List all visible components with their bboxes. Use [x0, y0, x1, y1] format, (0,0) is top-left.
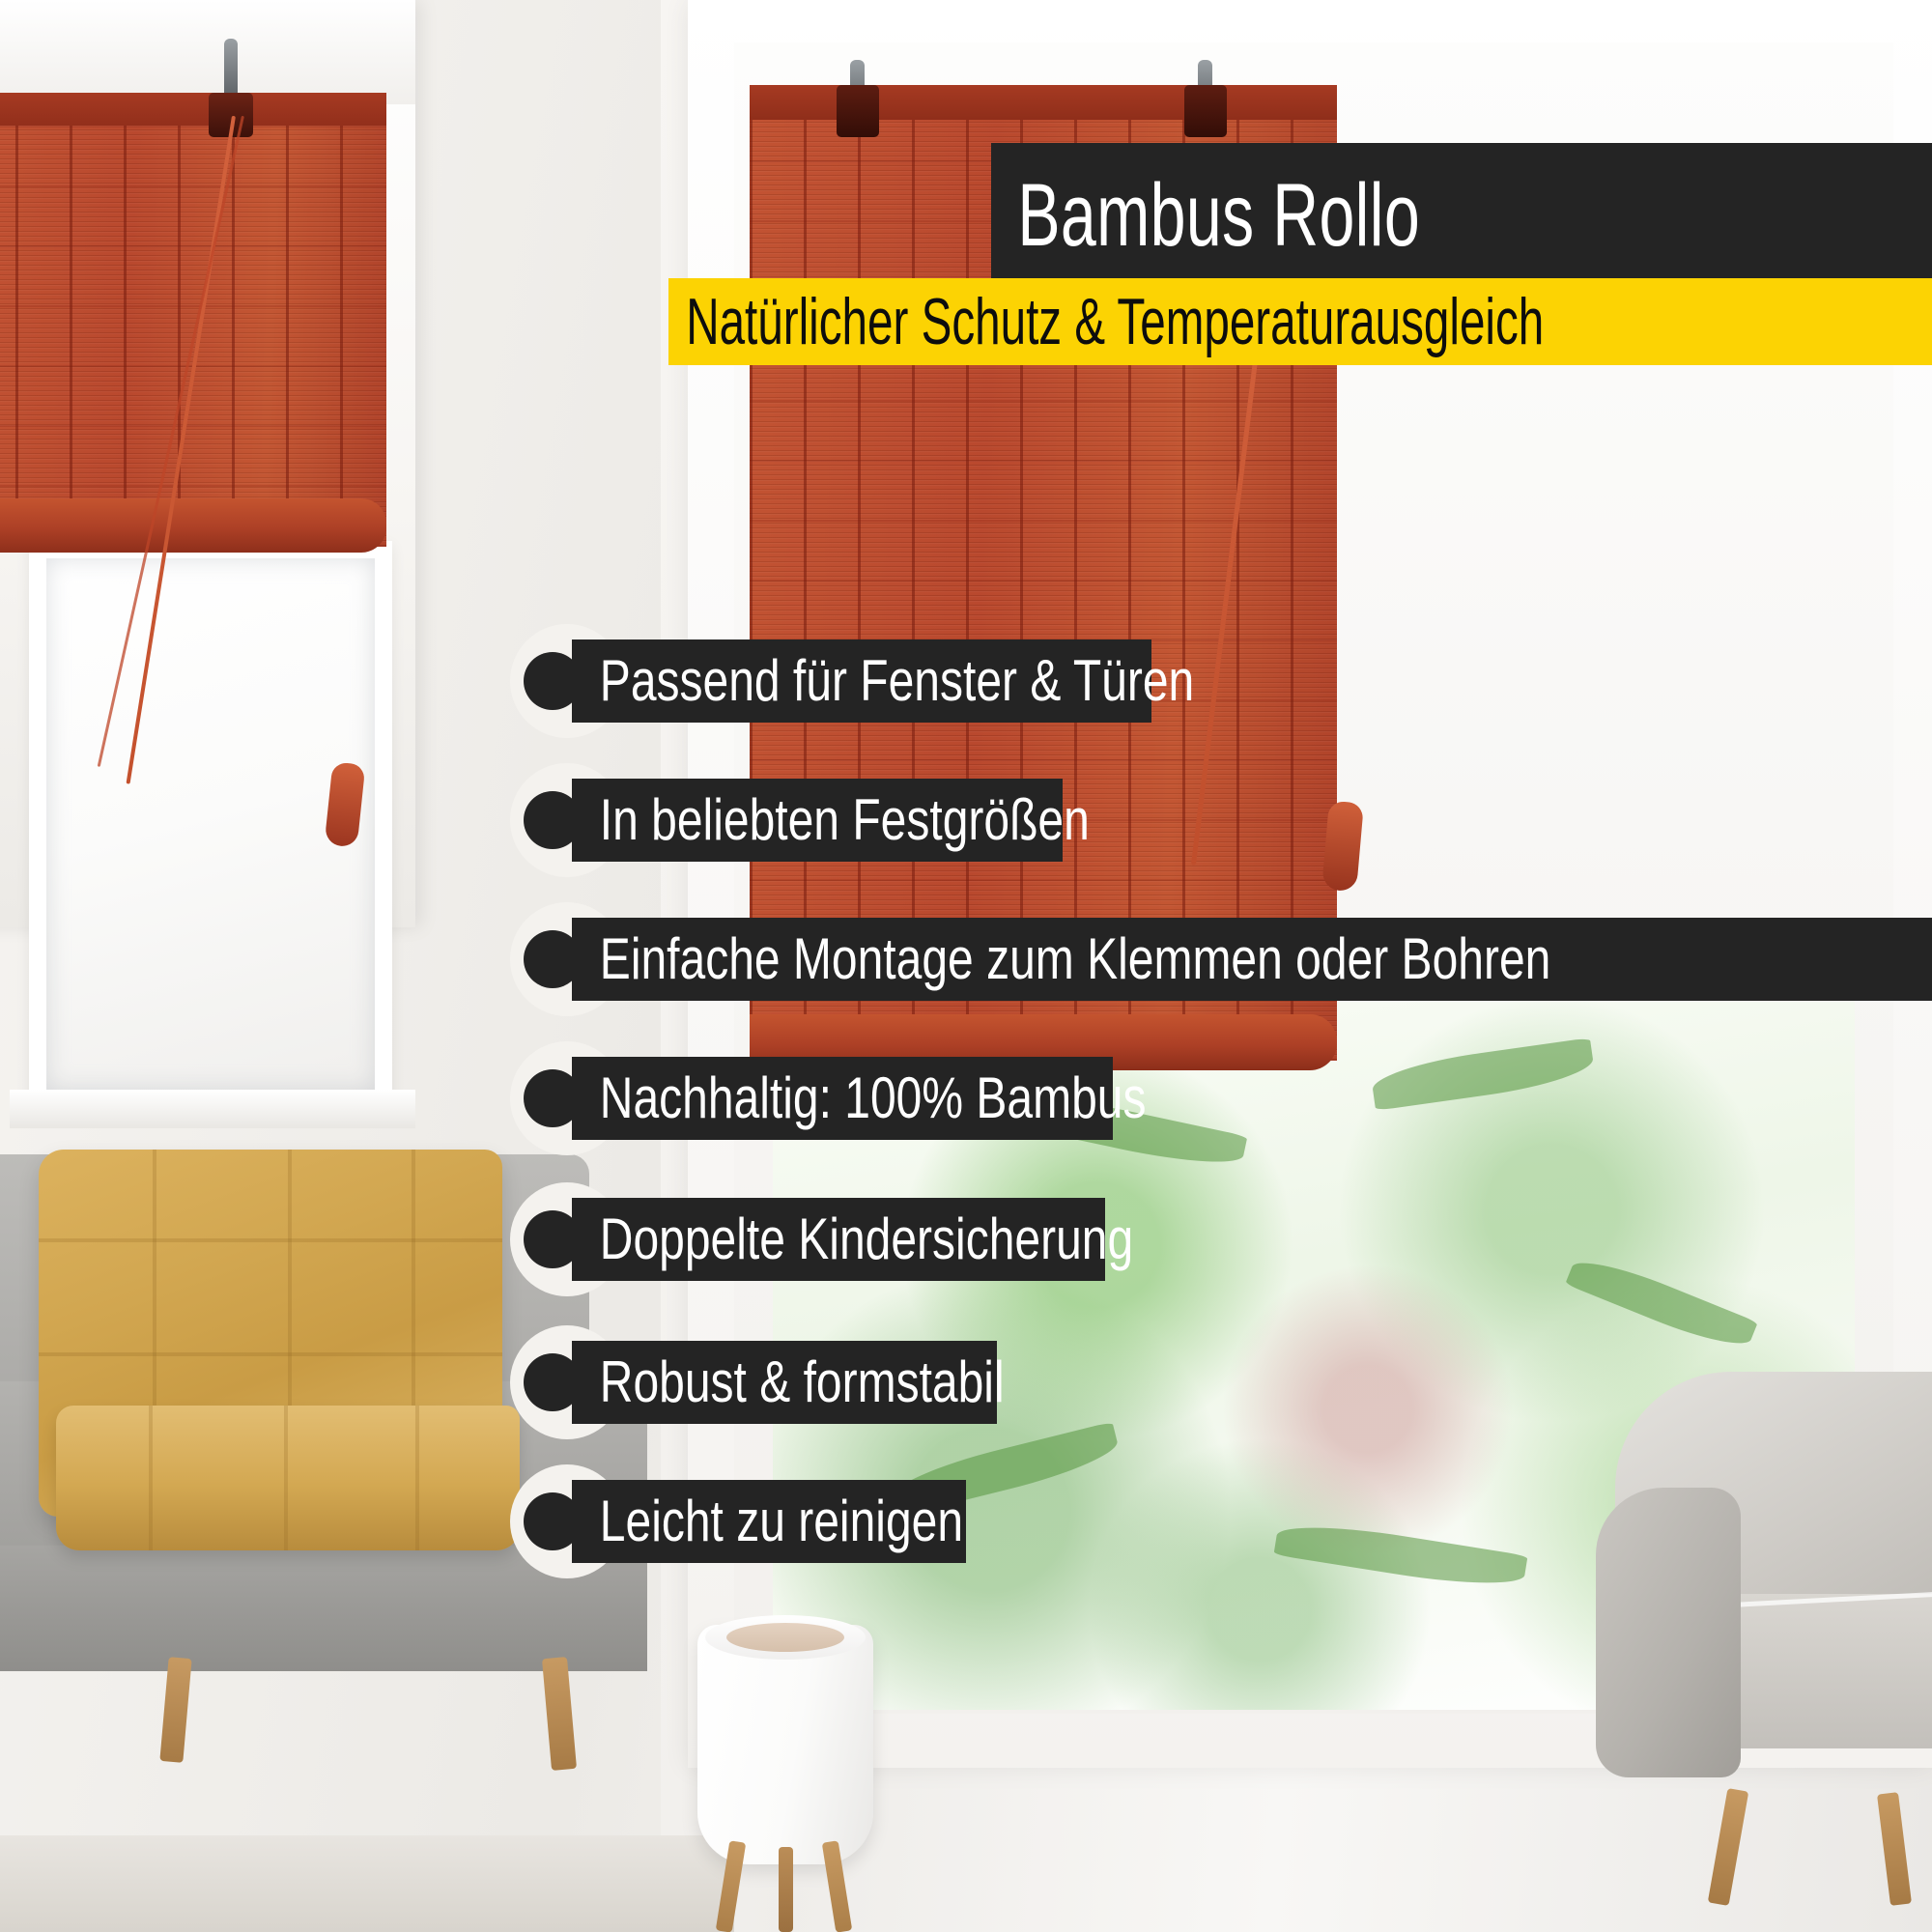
feature-bar: Nachhaltig: 100% Bambus — [572, 1057, 1113, 1140]
feature-bar: Passend für Fenster & Türen — [572, 639, 1151, 723]
bullet-dot-icon — [524, 1069, 582, 1127]
feature-bar: Robust & formstabil — [572, 1341, 997, 1424]
feature-label: Nachhaltig: 100% Bambus — [572, 1069, 1146, 1127]
feature-label: Robust & formstabil — [572, 1353, 1005, 1411]
feature-bar: Doppelte Kindersicherung — [572, 1198, 1105, 1281]
feature-label: Passend für Fenster & Türen — [572, 652, 1194, 710]
feature-label: In beliebten Festgrößen — [572, 791, 1090, 849]
marketing-banner: Bambus Rollo Natürlicher Schutz & Temper… — [0, 0, 1932, 1932]
feature-list: Passend für Fenster & TürenIn beliebten … — [0, 0, 1932, 1932]
feature-bar: Leicht zu reinigen — [572, 1480, 966, 1563]
bullet-dot-icon — [524, 1492, 582, 1550]
bullet-dot-icon — [524, 930, 582, 988]
feature-label: Leicht zu reinigen — [572, 1492, 963, 1550]
bullet-dot-icon — [524, 791, 582, 849]
feature-bar: Einfache Montage zum Klemmen oder Bohren — [572, 918, 1932, 1001]
feature-label: Einfache Montage zum Klemmen oder Bohren — [572, 930, 1550, 988]
bullet-dot-icon — [524, 1353, 582, 1411]
feature-label: Doppelte Kindersicherung — [572, 1210, 1133, 1268]
feature-bar: In beliebten Festgrößen — [572, 779, 1063, 862]
bullet-dot-icon — [524, 1210, 582, 1268]
bullet-dot-icon — [524, 652, 582, 710]
